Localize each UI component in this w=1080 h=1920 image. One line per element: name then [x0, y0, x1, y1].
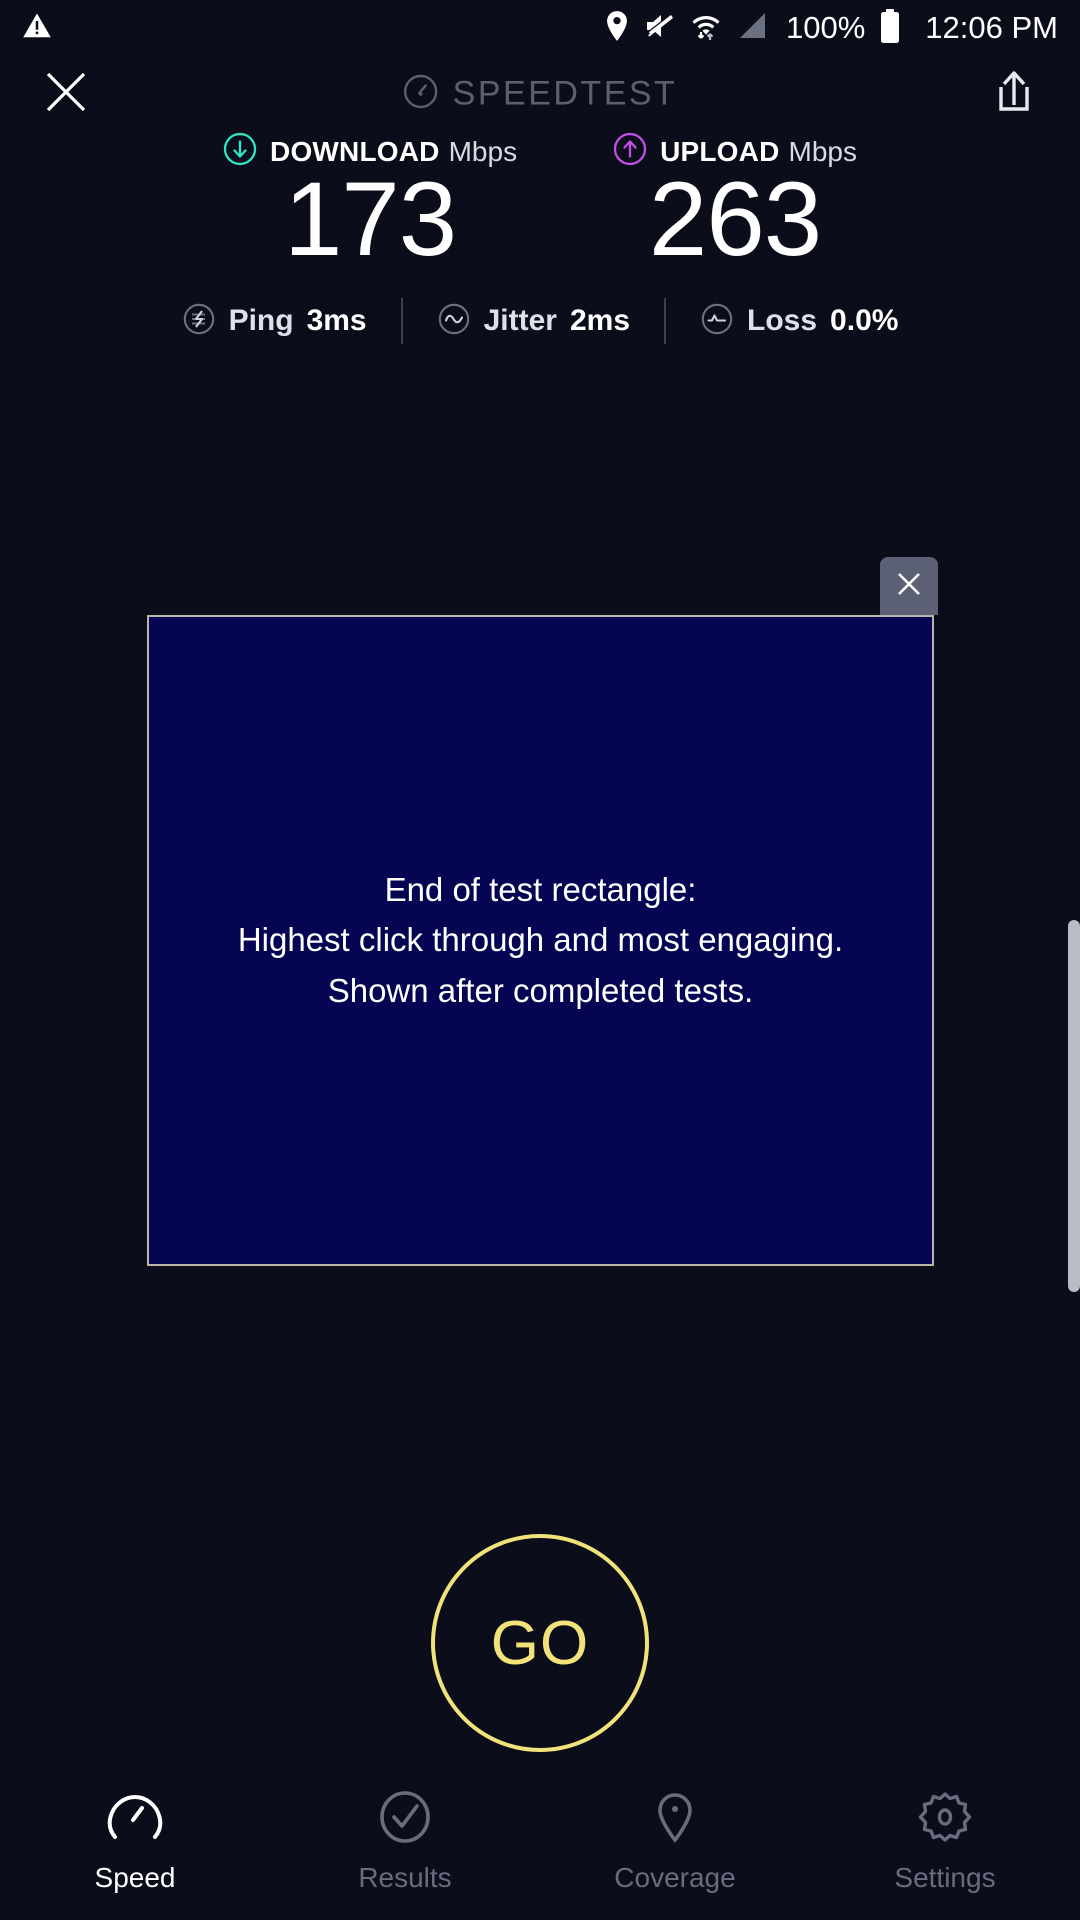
volume-mute-icon: [644, 11, 676, 46]
loss-value: 0.0%: [830, 304, 898, 338]
nav-item-speed[interactable]: Speed: [0, 1765, 270, 1920]
warning-triangle-icon: [22, 11, 52, 46]
network-quality-row: Ping 3ms Jitter 2ms: [0, 298, 1080, 344]
speedometer-icon: [403, 74, 439, 115]
nav-label-speed: Speed: [95, 1862, 176, 1894]
jitter-label: Jitter: [484, 304, 557, 338]
ad-close-button[interactable]: [880, 557, 938, 615]
nav-label-coverage: Coverage: [614, 1862, 735, 1894]
map-pin-icon: [647, 1791, 703, 1848]
nav-label-settings: Settings: [894, 1862, 995, 1894]
bottom-navigation: Speed Results Coverage: [0, 1765, 1080, 1920]
ad-close-icon: [893, 568, 925, 605]
ad-line-2: Highest click through and most engaging.: [238, 915, 843, 965]
ad-line-1: End of test rectangle:: [238, 865, 843, 915]
page-scrollbar[interactable]: [1068, 920, 1080, 1292]
download-arrow-icon: [223, 132, 257, 171]
results-summary: DOWNLOAD Mbps 173 UPLOAD Mbps: [0, 132, 1080, 344]
ping-icon: [182, 302, 216, 341]
clock-label: 12:06 PM: [925, 10, 1058, 46]
download-metric: DOWNLOAD Mbps 173: [223, 132, 517, 272]
ad-text-block: End of test rectangle: Highest click thr…: [238, 865, 843, 1015]
go-button-label: GO: [491, 1608, 589, 1679]
check-circle-icon: [377, 1791, 433, 1848]
status-bar: 100% 12:06 PM: [0, 0, 1080, 56]
gear-icon: [917, 1791, 973, 1848]
upload-value: 263: [649, 167, 821, 272]
ping-value: 3ms: [307, 304, 367, 338]
loss-icon: [700, 302, 734, 341]
location-pin-icon: [604, 10, 630, 47]
nav-label-results: Results: [358, 1862, 451, 1894]
status-bar-left: [22, 11, 52, 46]
battery-full-icon: [879, 9, 901, 48]
upload-arrow-icon: [613, 132, 647, 171]
speed-metrics-row: DOWNLOAD Mbps 173 UPLOAD Mbps: [0, 132, 1080, 272]
nav-item-results[interactable]: Results: [270, 1765, 540, 1920]
loss-metric: Loss 0.0%: [666, 302, 932, 341]
download-value: 173: [284, 167, 456, 272]
scrollbar-thumb[interactable]: [1068, 920, 1080, 1292]
jitter-wave-icon: [437, 302, 471, 341]
close-icon: [43, 69, 89, 120]
ad-line-3: Shown after completed tests.: [238, 966, 843, 1016]
download-unit: Mbps: [449, 136, 517, 168]
status-bar-right: 100% 12:06 PM: [604, 9, 1058, 48]
go-button[interactable]: GO: [431, 1534, 649, 1752]
nav-item-coverage[interactable]: Coverage: [540, 1765, 810, 1920]
share-upload-icon: [993, 69, 1035, 120]
cellular-signal-icon: [736, 11, 768, 46]
upload-metric: UPLOAD Mbps 263: [613, 132, 857, 272]
brand-wordmark: SPEEDTEST: [403, 74, 678, 115]
nav-item-settings[interactable]: Settings: [810, 1765, 1080, 1920]
advertisement-container: End of test rectangle: Highest click thr…: [147, 615, 934, 1266]
speedometer-icon: [107, 1791, 163, 1848]
jitter-value: 2ms: [570, 304, 630, 338]
speedtest-app-screen: 100% 12:06 PM: [0, 0, 1080, 1920]
ping-label: Ping: [229, 304, 294, 338]
loss-label: Loss: [747, 304, 817, 338]
app-header: SPEEDTEST: [0, 56, 1080, 132]
battery-percent-label: 100%: [786, 10, 865, 46]
share-button[interactable]: [990, 68, 1038, 120]
brand-title: SPEEDTEST: [453, 75, 678, 114]
ad-banner[interactable]: End of test rectangle: Highest click thr…: [147, 615, 934, 1266]
wifi-transfer-icon: [690, 10, 722, 47]
ping-metric: Ping 3ms: [148, 302, 401, 341]
close-button[interactable]: [40, 68, 92, 120]
jitter-metric: Jitter 2ms: [403, 302, 664, 341]
